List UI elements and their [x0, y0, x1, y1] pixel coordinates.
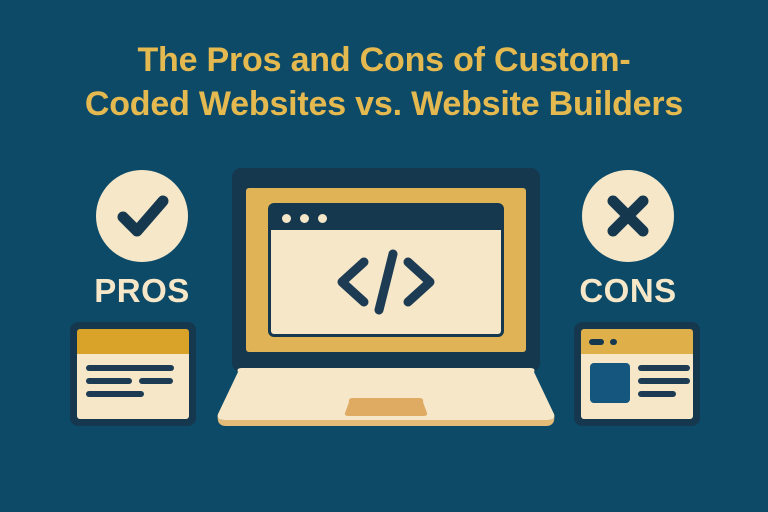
text-row — [86, 378, 180, 384]
title-line-2: Coded Websites vs. Website Builders — [34, 82, 734, 126]
custom-code-card — [70, 322, 196, 426]
laptop-bezel — [246, 188, 526, 352]
text-row — [86, 365, 180, 371]
cons-label: CONS — [548, 274, 708, 307]
laptop-base — [216, 368, 556, 428]
window-dot-icon — [318, 214, 327, 223]
browser-titlebar — [271, 206, 501, 230]
text-line — [638, 391, 676, 397]
window-dot-icon — [282, 214, 291, 223]
x-icon — [582, 170, 674, 262]
cons-column: CONS — [548, 170, 708, 307]
poster-canvas: The Pros and Cons of Custom- Coded Websi… — [0, 0, 768, 512]
text-line — [139, 378, 173, 384]
image-placeholder — [590, 363, 630, 403]
cons-badge — [582, 170, 674, 262]
header-pill-icon — [589, 339, 604, 345]
pros-label: PROS — [62, 274, 222, 307]
website-builder-card — [574, 322, 700, 426]
text-line — [86, 365, 174, 371]
card-header-bar — [581, 329, 693, 354]
browser-window — [268, 203, 504, 337]
text-line — [86, 378, 132, 384]
window-dot-icon — [300, 214, 309, 223]
text-line — [638, 378, 690, 384]
pros-column: PROS — [62, 170, 222, 307]
laptop-base-shape — [216, 368, 556, 428]
laptop-illustration — [216, 168, 556, 452]
text-line — [86, 391, 144, 397]
code-brackets-icon — [326, 243, 446, 321]
pros-badge — [96, 170, 188, 262]
text-column — [638, 363, 690, 404]
page-title: The Pros and Cons of Custom- Coded Websi… — [34, 38, 734, 126]
laptop-lid — [232, 168, 540, 372]
header-dot-icon — [610, 339, 617, 345]
check-icon — [96, 170, 188, 262]
card-header-bar — [77, 329, 189, 354]
text-row — [86, 391, 180, 397]
card-body — [77, 354, 189, 419]
browser-viewport — [271, 230, 501, 334]
text-line — [638, 365, 690, 371]
card-body — [581, 354, 693, 419]
title-line-1: The Pros and Cons of Custom- — [34, 38, 734, 82]
